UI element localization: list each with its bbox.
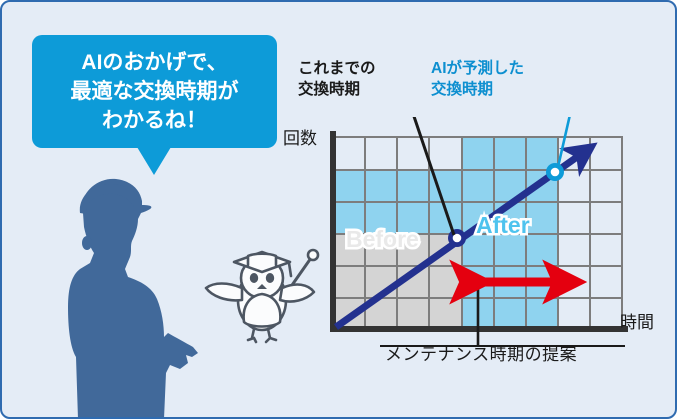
region-label-after: After (476, 212, 530, 238)
callout-maintenance-proposal: メンテナンス時期の提案 (385, 340, 577, 365)
infographic-canvas: AIのおかげで、 最適な交換時期が わかるね！ (0, 0, 677, 419)
callout-ai-predicted-replacement: AIが予測した 交換時期 (431, 58, 524, 100)
maintenance-worker-silhouette (20, 157, 205, 419)
callout-past-replacement: これまでの 交換時期 (298, 58, 376, 100)
x-axis-label: 時間 (620, 308, 654, 333)
region-label-before: Before (346, 226, 419, 252)
ai-predicted-replacement-point (546, 163, 564, 181)
past-replacement-point (448, 229, 466, 247)
trend-chart: Before Before After After (280, 117, 677, 357)
y-axis-label: 回数 (283, 124, 317, 149)
speech-bubble: AIのおかげで、 最適な交換時期が わかるね！ (32, 35, 277, 148)
speech-bubble-text: AIのおかげで、 最適な交換時期が わかるね！ (71, 48, 239, 135)
